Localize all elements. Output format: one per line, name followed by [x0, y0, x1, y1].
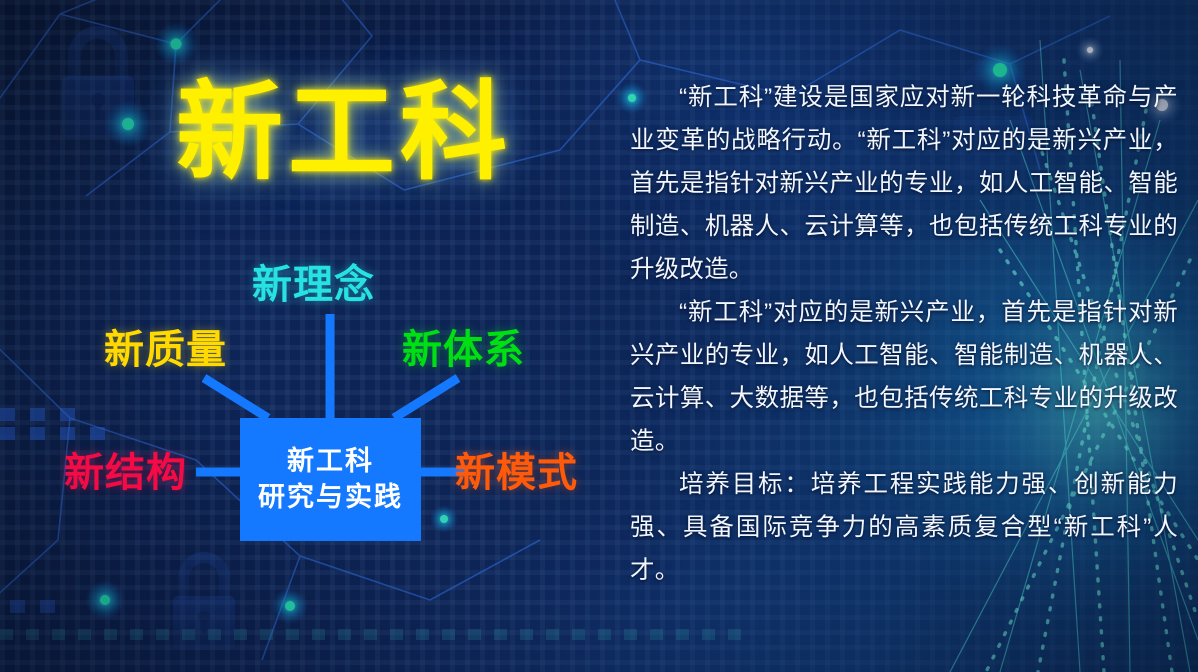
page-title: 新工科 [176, 76, 512, 189]
center-node-line-2: 研究与实践 [258, 483, 403, 513]
body-paragraph-3: 培养目标：培养工程实践能力强、创新能力强、具备国际竞争力的高素质复合型“新工科”… [630, 463, 1178, 592]
bottom-dashed-band [0, 629, 743, 640]
mindmap-node-new-quality[interactable]: 新质量 [104, 330, 227, 370]
mindmap-node-new-system[interactable]: 新体系 [402, 330, 525, 370]
connector-tixi [394, 378, 458, 418]
mindmap-center-node[interactable]: 新工科 研究与实践 [240, 418, 421, 541]
body-paragraph-1: “新工科”建设是国家应对新一轮科技革命与产业变革的战略行动。“新工科”对应的是新… [630, 76, 1178, 291]
body-paragraph-2: “新工科”对应的是新兴产业，首先是指针对新兴产业的专业，如人工智能、智能制造、机… [630, 291, 1178, 463]
connector-zhiliang [204, 378, 268, 418]
mindmap-node-new-concept[interactable]: 新理念 [252, 265, 375, 305]
mindmap-node-new-mode[interactable]: 新模式 [455, 453, 578, 493]
mindmap-node-new-structure[interactable]: 新结构 [64, 453, 187, 493]
body-text-column: “新工科”建设是国家应对新一轮科技革命与产业变革的战略行动。“新工科”对应的是新… [630, 76, 1178, 592]
slide-canvas: 新工科 新工科 研究与实践 新理念 新质量 新体系 新结构 新模式 “新工科”建… [0, 0, 1198, 672]
center-node-line-1: 新工科 [287, 447, 374, 477]
mindmap: 新工科 研究与实践 新理念 新质量 新体系 新结构 新模式 [0, 250, 640, 570]
